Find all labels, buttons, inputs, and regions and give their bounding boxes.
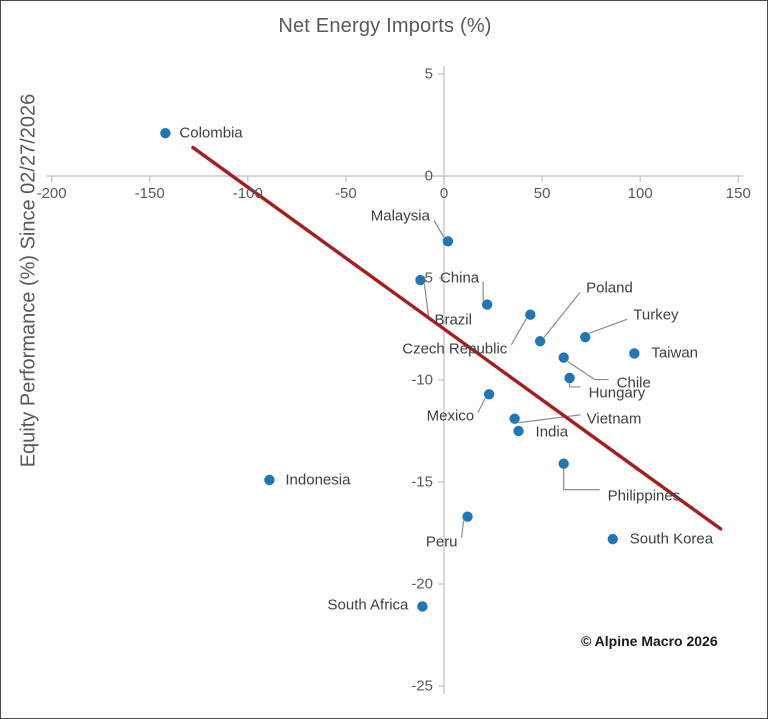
- y-tick-label: 0: [1, 168, 433, 185]
- x-tick-label: 0: [440, 185, 448, 202]
- y-tick-label: -25: [1, 678, 433, 695]
- point-label: Malaysia: [371, 208, 430, 225]
- point-label: Taiwan: [651, 345, 698, 362]
- data-point[interactable]: [509, 414, 519, 424]
- point-label: Colombia: [179, 125, 242, 142]
- point-label: Mexico: [427, 408, 475, 425]
- data-point[interactable]: [443, 236, 453, 246]
- data-point[interactable]: [462, 511, 472, 521]
- data-point[interactable]: [417, 601, 427, 611]
- leader-line: [478, 398, 485, 412]
- point-label: Turkey: [633, 307, 678, 324]
- x-tick-label: -100: [233, 185, 263, 202]
- data-point[interactable]: [160, 128, 170, 138]
- x-tick-label: 50: [534, 185, 551, 202]
- copyright-notice: © Alpine Macro 2026: [581, 633, 718, 649]
- point-label: China: [440, 269, 479, 286]
- y-tick-label: -10: [1, 372, 433, 389]
- data-point[interactable]: [580, 332, 590, 342]
- point-label: South Africa: [328, 597, 409, 614]
- leader-line: [544, 292, 580, 337]
- data-point[interactable]: [629, 348, 639, 358]
- leader-line: [564, 469, 600, 490]
- point-label: Czech Republic: [402, 340, 507, 357]
- trendline: [193, 147, 721, 528]
- point-label: Peru: [426, 533, 458, 550]
- point-label: Poland: [586, 280, 633, 297]
- data-point[interactable]: [608, 534, 618, 544]
- leader-line: [589, 319, 627, 333]
- point-label: Vietnam: [587, 410, 642, 427]
- point-label: Brazil: [434, 312, 472, 329]
- data-point[interactable]: [535, 336, 545, 346]
- point-label: South Korea: [630, 531, 713, 548]
- point-label: Hungary: [589, 384, 646, 401]
- point-label: Philippines: [608, 487, 681, 504]
- leader-line: [511, 319, 526, 345]
- leader-line: [434, 220, 444, 237]
- x-tick-label: -50: [335, 185, 357, 202]
- data-point[interactable]: [513, 426, 523, 436]
- data-point[interactable]: [558, 458, 568, 468]
- point-label: Indonesia: [285, 471, 350, 488]
- x-tick-label: 150: [726, 185, 751, 202]
- data-point[interactable]: [558, 352, 568, 362]
- data-point[interactable]: [564, 373, 574, 383]
- chart-container: Net Energy Imports (%) Equity Performanc…: [0, 0, 768, 719]
- point-label: India: [536, 424, 569, 441]
- label-leader-lines: [424, 220, 627, 537]
- y-tick-label: -20: [1, 576, 433, 593]
- leader-line: [424, 284, 428, 316]
- leader-line: [462, 521, 464, 538]
- trendline-segment: [193, 147, 721, 528]
- x-tick-label: 100: [628, 185, 653, 202]
- y-tick-label: -15: [1, 474, 433, 491]
- data-point[interactable]: [484, 389, 494, 399]
- x-tick-label: -150: [135, 185, 165, 202]
- y-tick-label: 5: [1, 66, 433, 83]
- data-point[interactable]: [525, 310, 535, 320]
- x-tick-label: -200: [37, 185, 67, 202]
- data-point[interactable]: [482, 299, 492, 309]
- leader-line: [570, 383, 581, 387]
- y-tick-label: -5: [1, 270, 433, 287]
